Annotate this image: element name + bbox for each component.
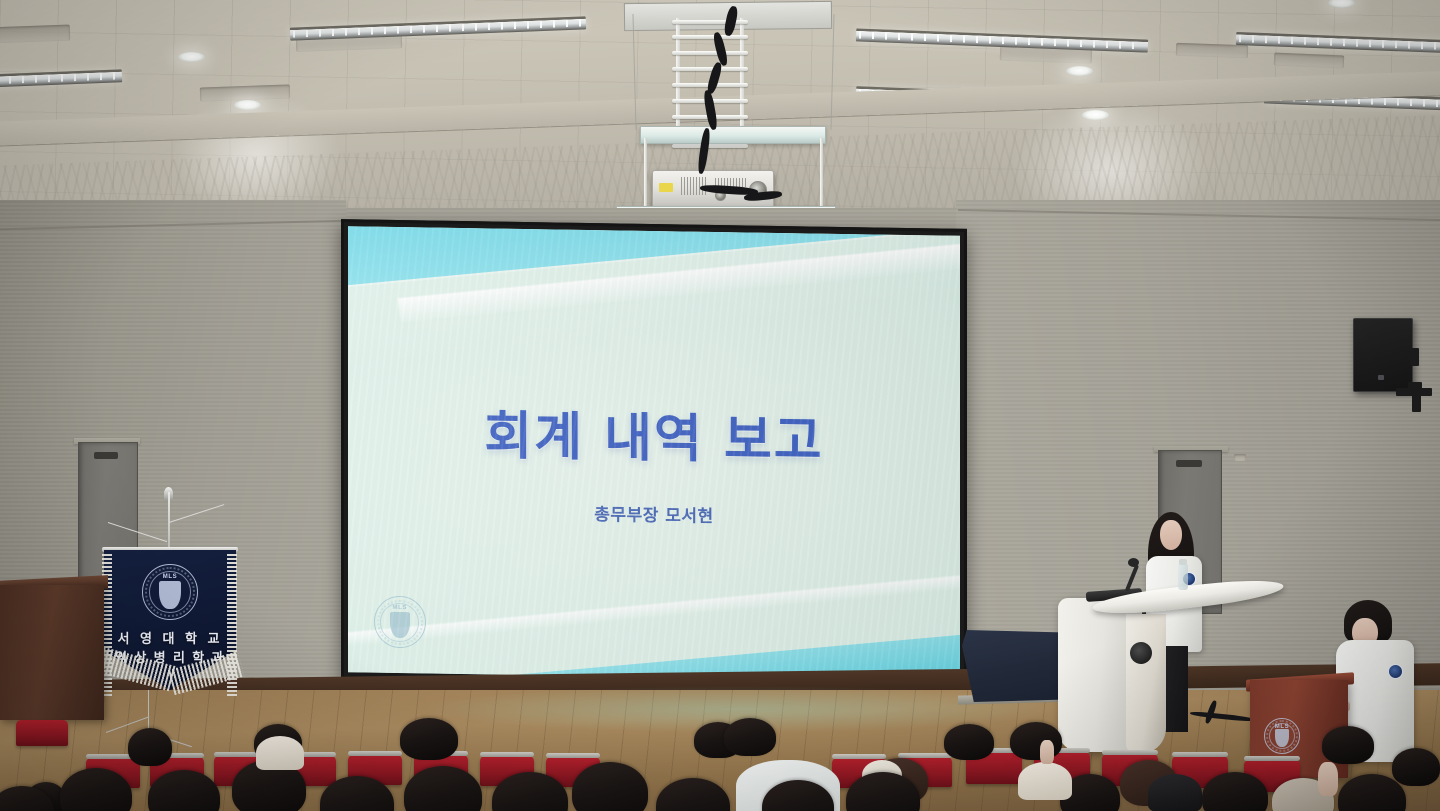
- water-bottle: [1178, 564, 1188, 590]
- speaker-mount-bracket: [1410, 348, 1419, 366]
- projector-post: [644, 138, 647, 212]
- emblem-shield: [390, 612, 410, 638]
- audience-cap: [1148, 774, 1202, 811]
- speaker-mount-plate: [1412, 382, 1421, 412]
- audience-head: [572, 762, 648, 811]
- ceiling-vent: [1176, 43, 1248, 59]
- presenter-face: [1160, 520, 1182, 550]
- audience-head: [128, 728, 172, 766]
- university-emblem-icon: MLS: [142, 564, 198, 620]
- auditorium-seat-rail: [348, 751, 402, 756]
- audience-raised-hand: [1318, 762, 1338, 796]
- audience-head: [724, 718, 776, 756]
- lecture-hall-photo: 회계 내역 보고 총무부장 모서현 MLS: [0, 0, 1440, 811]
- right-door-closer: [1176, 460, 1202, 467]
- presentation-slide: 회계 내역 보고 총무부장 모서현 MLS: [348, 226, 960, 682]
- water-bottle-cap: [1179, 559, 1187, 565]
- auditorium-seat-rail: [1102, 750, 1158, 755]
- podium-speaker-grille-icon: [1130, 642, 1152, 664]
- audience-head: [1322, 726, 1374, 764]
- projection-screen-surface: 회계 내역 보고 총무부장 모서현 MLS: [348, 226, 960, 682]
- auditorium-seat-rail: [1172, 752, 1228, 757]
- university-emblem-icon: MLS: [374, 596, 426, 649]
- podium-microphone-head-icon: [1128, 558, 1139, 567]
- audience-head: [400, 718, 458, 760]
- auditorium-seat-rail: [832, 754, 886, 759]
- auditorium-seat-rail: [546, 753, 600, 758]
- left-door-closer: [94, 452, 118, 459]
- assistant-coat-badge-icon: [1388, 664, 1403, 679]
- emblem-shield: [159, 581, 180, 609]
- ceiling-downlight: [1082, 110, 1109, 120]
- projector-post: [820, 138, 823, 212]
- audience-raised-hand: [1040, 740, 1054, 764]
- exit-sign-plate: [1234, 454, 1246, 461]
- pennant-university-name: 서 영 대 학 교: [104, 628, 236, 647]
- ceiling-downlight: [178, 52, 205, 62]
- pennant-cord: [108, 522, 167, 542]
- auditorium-seat-rail: [1244, 756, 1300, 761]
- slide-subtitle: 총무부장 모서현: [348, 496, 960, 531]
- audience-head: [1010, 722, 1062, 760]
- speaker-indicator-icon: [1378, 375, 1384, 380]
- audience-head: [944, 724, 994, 760]
- projector-upper-shelf: [640, 126, 826, 144]
- wall-speaker: [1353, 318, 1413, 392]
- audience-head: [656, 778, 730, 811]
- auditorium-seat-rail: [480, 752, 534, 757]
- audience-cap: [1018, 762, 1072, 800]
- slide-title: 회계 내역 보고: [348, 391, 960, 476]
- auditorium-seat: [16, 720, 68, 746]
- pennant-cord: [169, 504, 224, 523]
- projector-warning-label: [659, 183, 673, 192]
- ceiling-downlight: [1066, 66, 1093, 76]
- ceiling-downlight: [234, 100, 261, 110]
- emblem-mls-text: MLS: [142, 574, 198, 580]
- slide-bottom-brush-wisp: [348, 567, 960, 649]
- emblem-mls-text: MLS: [374, 605, 426, 612]
- audience-cap: [256, 736, 304, 770]
- audience-area: [0, 700, 1440, 811]
- auditorium-seat-rail: [898, 753, 952, 758]
- projection-screen: 회계 내역 보고 총무부장 모서현 MLS: [341, 219, 967, 689]
- ceiling-vent: [0, 25, 70, 44]
- audience-head: [1392, 748, 1440, 786]
